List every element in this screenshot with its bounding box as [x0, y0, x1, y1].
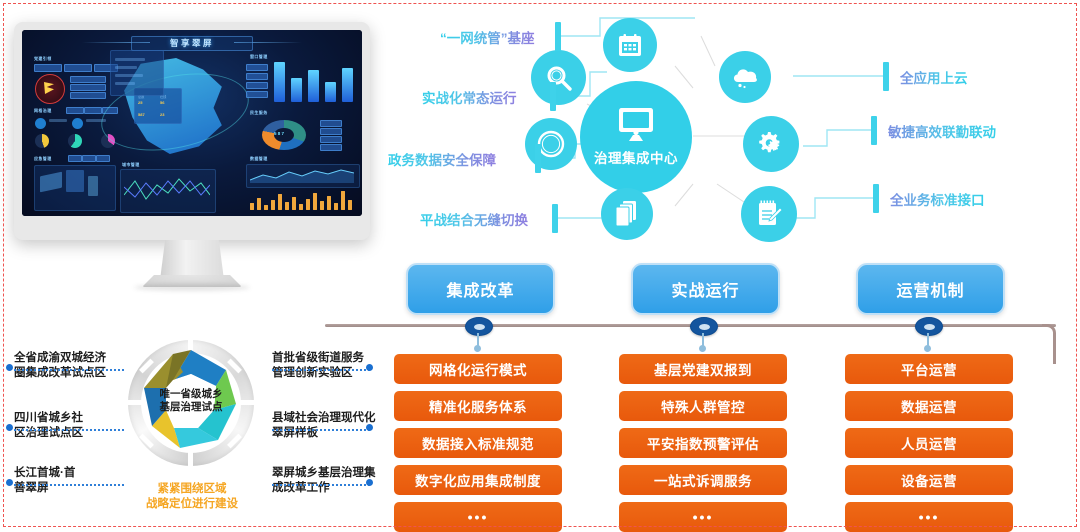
tick-bar-2: [550, 82, 556, 111]
panel-header-grid: 网格治理: [34, 108, 52, 114]
monitor-screen: 智享翠屏 党建引领 网格治理: [22, 30, 362, 216]
tick-bar-3: [535, 144, 541, 173]
rail-dot-2: [924, 345, 931, 352]
data-bar-chart: [248, 190, 358, 210]
item-2-4[interactable]: •••: [845, 502, 1013, 532]
mindmap-right-label-2: 敏捷高效联勤联动: [888, 121, 996, 141]
tick-bar-5: [883, 62, 889, 91]
circle-left-dot-0: [6, 364, 13, 371]
rail-knob-2[interactable]: [915, 317, 943, 336]
panel-header-city: 城市管理: [122, 162, 140, 168]
category-pill-1[interactable]: 实战运行: [631, 263, 780, 315]
node-notepad[interactable]: [741, 186, 797, 242]
circle-left-dot-2: [6, 479, 13, 486]
tick-bar-7: [873, 184, 879, 213]
item-1-1[interactable]: 特殊人群管控: [619, 391, 787, 421]
node-search[interactable]: [531, 50, 586, 105]
data-area-chart: [250, 167, 354, 183]
rail-knob-0[interactable]: [465, 317, 493, 336]
timeline-rail-end: [1042, 324, 1056, 364]
mindmap-left-label-4: 平战结合无缝切换: [420, 209, 528, 229]
panel-header-party: 党建引领: [34, 56, 52, 62]
circle-right-label-2: 翠屏城乡基层治理集 成改革工作: [272, 466, 376, 496]
circle-right-label-1: 县域社会治理现代化 翠屏样板: [272, 411, 376, 441]
mindmap-left-label-3: 政务数据安全保障: [388, 149, 496, 169]
tick-bar-1: [555, 22, 561, 51]
circle-left-dot-1: [6, 424, 13, 431]
circle-right-dot-0: [366, 364, 373, 371]
dashboard-title: 智享翠屏: [170, 37, 214, 49]
node-calendar[interactable]: [603, 18, 657, 72]
circle-right-label-0: 首批省级街道服务 管理创新实验区: [272, 351, 364, 381]
monitor-stand-neck: [160, 240, 224, 280]
node-gears[interactable]: [743, 116, 799, 172]
circle-right-dot-1: [366, 424, 373, 431]
calendar-icon: [617, 32, 643, 58]
monitor-icon: [615, 107, 657, 143]
city-line-chart: [124, 173, 210, 205]
circle-center-text: 唯一省级城乡 基层治理试点: [160, 388, 223, 414]
gears-icon: [755, 130, 787, 158]
item-1-2[interactable]: 平安指数预警评估: [619, 428, 787, 458]
map-info-panel: [110, 50, 164, 96]
circle-left-label-1: 四川省城乡社 区治理试点区: [14, 411, 83, 441]
item-2-2[interactable]: 人员运营: [845, 428, 1013, 458]
item-0-2[interactable]: 数据接入标准规范: [394, 428, 562, 458]
mindmap-left-label-1: “一网统管”基座: [440, 27, 535, 47]
item-2-3[interactable]: 设备运营: [845, 465, 1013, 495]
node-documents[interactable]: [601, 188, 653, 240]
circle-right-dot-2: [366, 479, 373, 486]
item-1-4[interactable]: •••: [619, 502, 787, 532]
item-1-3[interactable]: 一站式诉调服务: [619, 465, 787, 495]
item-0-0[interactable]: 网格化运行模式: [394, 354, 562, 384]
donut-center-value: 5 8 7: [274, 131, 284, 136]
category-pill-2[interactable]: 运营机制: [856, 263, 1005, 315]
rail-dot-0: [474, 345, 481, 352]
node-compass[interactable]: [525, 118, 577, 170]
node-cloud[interactable]: [719, 51, 771, 103]
monitor-shadow: [134, 284, 250, 291]
panel-header-emergency: 应急管理: [34, 156, 52, 162]
panel-header-service: 民生服务: [250, 110, 268, 116]
mindmap-right-label-3: 全业务标准接口: [890, 189, 985, 209]
mindmap-right-label-1: 全应用上云: [900, 67, 968, 87]
slide-canvas: 智享翠屏 党建引领 网格治理: [0, 0, 1080, 530]
item-0-3[interactable]: 数字化应用集成制度: [394, 465, 562, 495]
strategy-circle: 唯一省级城乡 基层治理试点: [128, 340, 254, 466]
notepad-pencil-icon: [755, 199, 783, 229]
item-1-0[interactable]: 基层党建双报到: [619, 354, 787, 384]
mindmap-hub[interactable]: 治理集成中心: [580, 81, 692, 193]
panel-header-data: 数据管理: [250, 156, 268, 162]
mindmap: 治理集成中心: [375, 6, 1075, 256]
category-pill-0[interactable]: 集成改革: [406, 263, 555, 315]
monitor-mockup: 智享翠屏 党建引领 网格治理: [14, 22, 370, 247]
cloud-icon: [731, 65, 759, 89]
item-2-0[interactable]: 平台运营: [845, 354, 1013, 384]
rail-knob-1[interactable]: [690, 317, 718, 336]
search-icon: [545, 64, 573, 92]
circle-left-label-0: 全省成渝双城经济 圈集成改革试点区: [14, 351, 106, 381]
tick-bar-4: [552, 204, 558, 233]
circle-caption: 紧紧围绕区域 战略定位进行建设: [122, 482, 262, 512]
item-2-1[interactable]: 数据运营: [845, 391, 1013, 421]
mindmap-left-label-2: 实战化常态运行: [422, 87, 517, 107]
panel-header-window: 窗口管理: [250, 54, 268, 60]
documents-icon: [614, 200, 640, 228]
circle-left-label-2: 长江首城·首 善翠屏: [14, 466, 75, 496]
item-0-1[interactable]: 精准化服务体系: [394, 391, 562, 421]
compass-icon: [537, 130, 565, 158]
item-0-4[interactable]: •••: [394, 502, 562, 532]
tick-bar-6: [871, 116, 877, 145]
rail-dot-1: [699, 345, 706, 352]
hub-label: 治理集成中心: [594, 147, 678, 167]
dashboard: 智享翠屏 党建引领 网格治理: [22, 30, 362, 216]
